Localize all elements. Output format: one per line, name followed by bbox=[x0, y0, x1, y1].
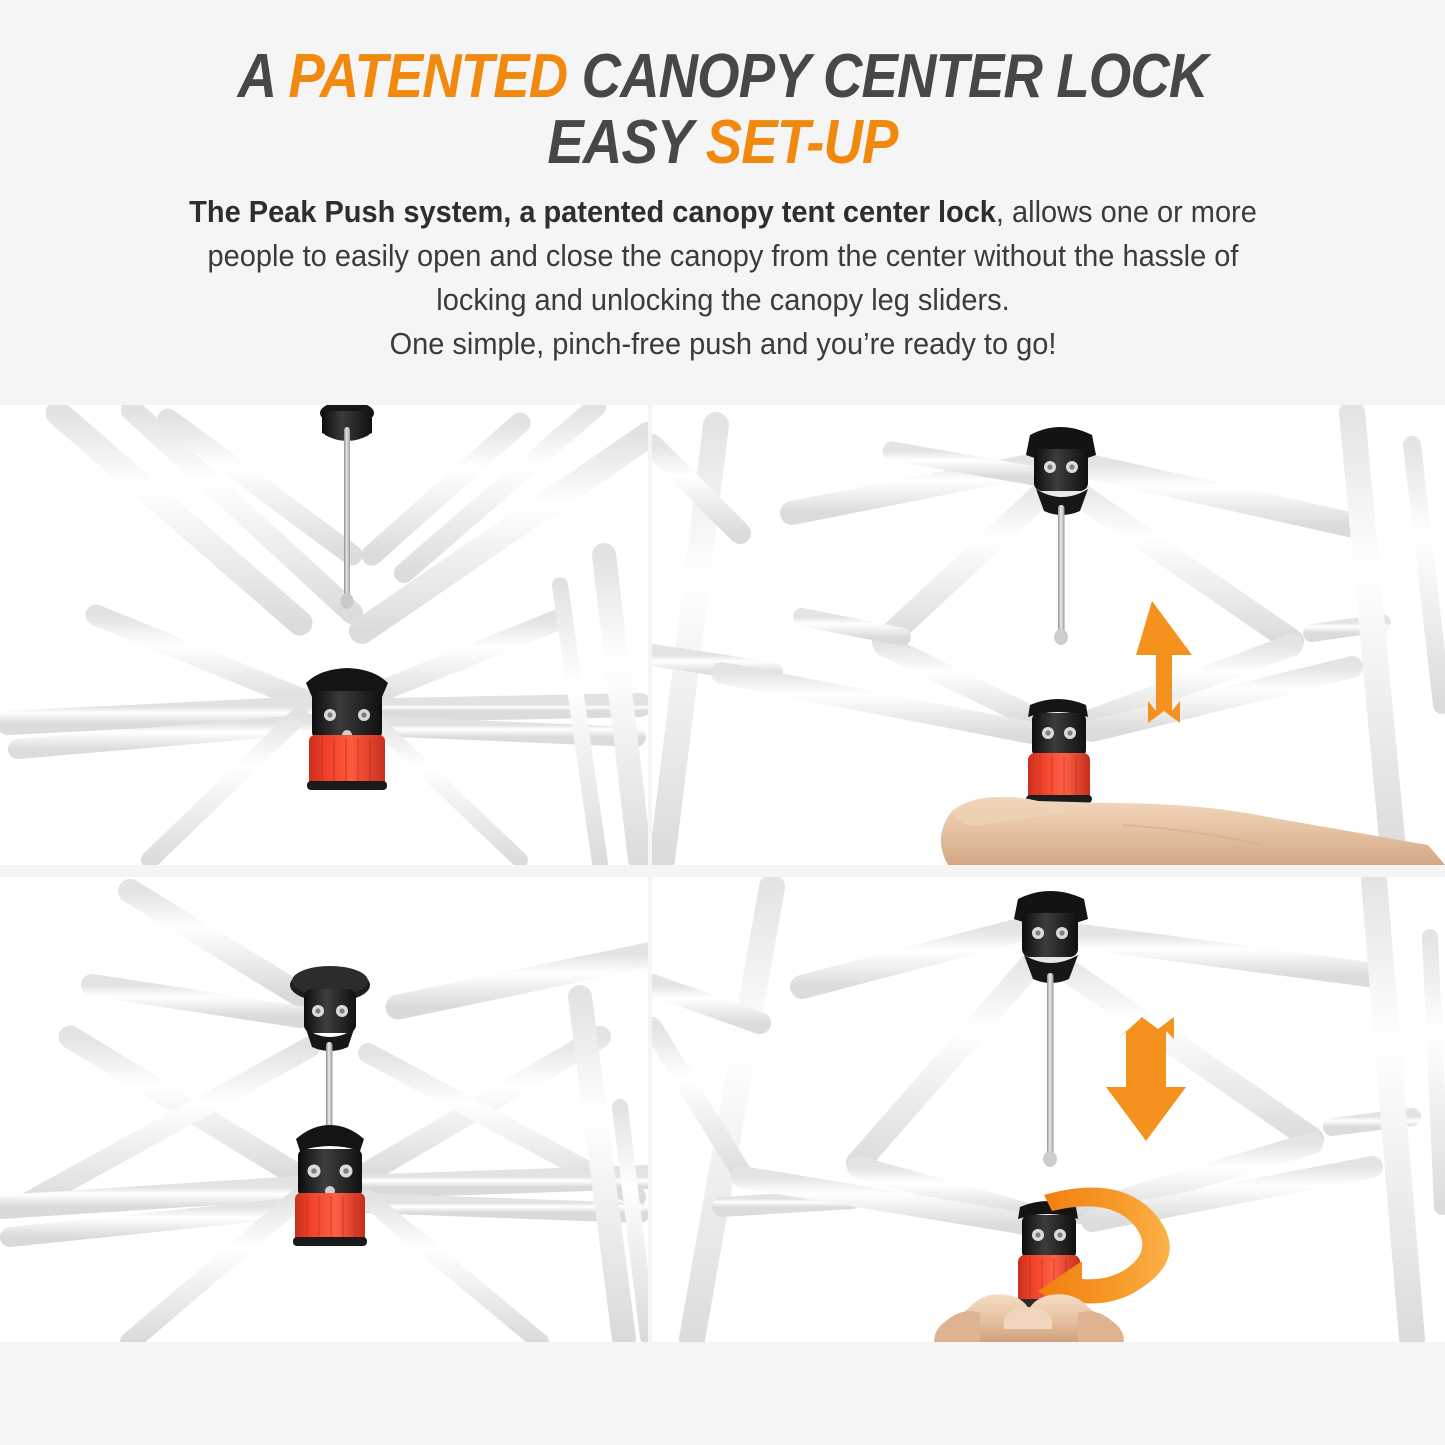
description-paragraph: The Peak Push system, a patented canopy … bbox=[110, 190, 1336, 366]
title-line-2: EASY SET-UP bbox=[87, 110, 1359, 176]
description-line-1: The Peak Push system, a patented canopy … bbox=[110, 190, 1336, 234]
center-lock bbox=[1026, 699, 1092, 803]
center-lock bbox=[306, 668, 388, 790]
description-bold-lead: The Peak Push system, a patented canopy … bbox=[189, 195, 996, 229]
description-line-2: people to easily open and close the cano… bbox=[110, 234, 1336, 278]
center-lock bbox=[293, 1125, 367, 1246]
panel-canopy-frame-push-down-twist bbox=[652, 877, 1445, 1342]
title-text-b: CANOPY CENTER LOCK bbox=[567, 42, 1207, 111]
description-line-1-rest: , allows one or more bbox=[995, 195, 1256, 229]
title-text-c: EASY bbox=[547, 108, 705, 177]
title-line-1: A PATENTED CANOPY CENTER LOCK bbox=[87, 44, 1359, 110]
red-lock-knob bbox=[309, 735, 385, 787]
product-photo-grid bbox=[0, 405, 1445, 1342]
push-rod bbox=[1058, 505, 1065, 633]
title-highlight-setup: SET-UP bbox=[706, 108, 898, 177]
title-text-a: A bbox=[238, 42, 289, 111]
description-line-3: locking and unlocking the canopy leg sli… bbox=[110, 278, 1336, 322]
infographic-page: A PATENTED CANOPY CENTER LOCK EASY SET-U… bbox=[0, 0, 1445, 1445]
panel-canopy-frame-push-up bbox=[652, 405, 1445, 865]
panel-canopy-frame-open-state bbox=[0, 405, 648, 865]
panel-canopy-frame-locked-state bbox=[0, 877, 648, 1342]
push-rod bbox=[344, 427, 350, 597]
description-line-4: One simple, pinch-free push and you’re r… bbox=[110, 322, 1336, 366]
page-title: A PATENTED CANOPY CENTER LOCK EASY SET-U… bbox=[87, 0, 1359, 176]
push-rod bbox=[1047, 973, 1054, 1155]
title-highlight-patented: PATENTED bbox=[288, 42, 567, 111]
red-lock-knob bbox=[1028, 753, 1090, 801]
